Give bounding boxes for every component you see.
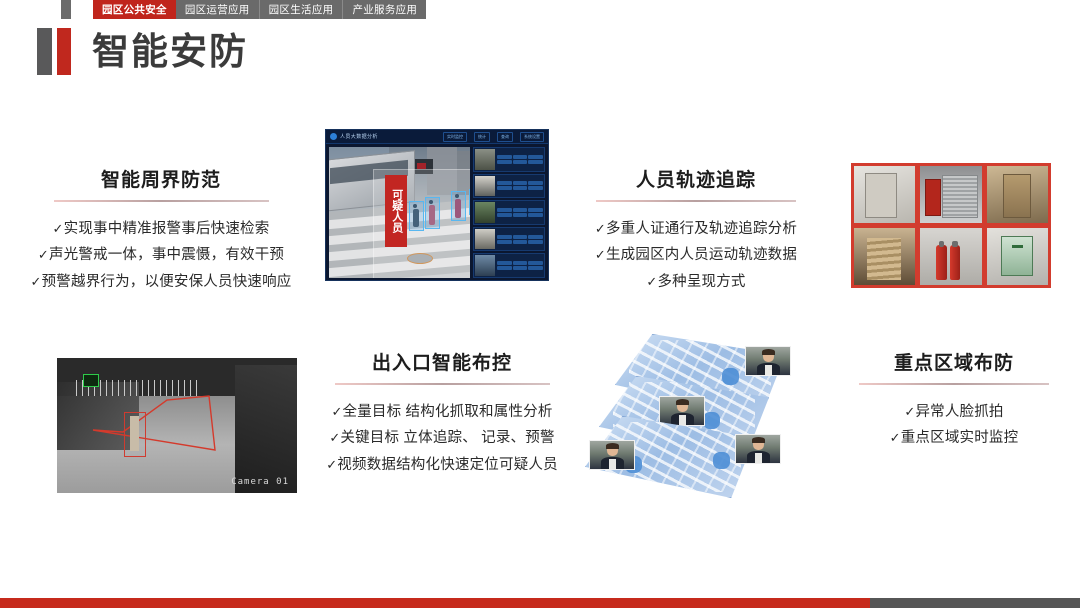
list-item: ✓视频数据结构化快速定位可疑人员 xyxy=(292,452,592,479)
bullet-text: 实现事中精准报警事后快速检索 xyxy=(64,221,270,237)
bullet-text: 关键目标 立体追踪、 记录、预警 xyxy=(340,430,554,446)
list-item[interactable] xyxy=(473,200,545,225)
list-item: ✓重点区域实时监控 xyxy=(828,425,1080,452)
meta-field xyxy=(528,240,543,244)
dashboard-detection-list[interactable] xyxy=(473,147,545,278)
check-icon: ✓ xyxy=(904,404,915,419)
door-shape xyxy=(865,173,897,219)
dashboard-header-buttons: 实时监控 统计 查询 系统设置 xyxy=(443,132,544,142)
perimeter-alarm-zone xyxy=(57,358,297,493)
list-item[interactable] xyxy=(473,174,545,199)
dashboard-btn-monitor[interactable]: 实时监控 xyxy=(443,132,467,142)
footer-red-segment xyxy=(0,598,870,608)
section-intelligent-perimeter: 智能周界防范 ✓实现事中精准报警事后快速检索 ✓声光警戒一体，事中震慑，有效干预… xyxy=(0,165,322,296)
section-entrance-control: 出入口智能布控 ✓全量目标 结构化抓取和属性分析 ✓关键目标 立体追踪、 记录、… xyxy=(292,348,592,479)
bullet-text: 声光警戒一体，事中震慑，有效干预 xyxy=(49,247,284,263)
list-item[interactable] xyxy=(473,147,545,172)
meta-field xyxy=(528,213,543,217)
bullet-text: 多种呈现方式 xyxy=(657,274,745,290)
list-item[interactable] xyxy=(473,227,545,252)
bullet-list: ✓异常人脸抓拍 ✓重点区域实时监控 xyxy=(828,399,1080,453)
control-panel-label xyxy=(1012,245,1023,248)
meta-field xyxy=(513,213,528,217)
person-hair xyxy=(676,399,689,405)
top-tab-bar: 园区公共安全 园区运营应用 园区生活应用 产业服务应用 xyxy=(0,0,1080,19)
check-icon: ✓ xyxy=(595,221,606,236)
section-divider xyxy=(335,383,550,385)
person-shirt xyxy=(609,459,615,469)
meta-field xyxy=(513,240,528,244)
page-title: 智能安防 xyxy=(92,33,248,70)
meta-field xyxy=(497,181,512,185)
bullet-text: 生成园区内人员运动轨迹数据 xyxy=(606,247,797,263)
section-title: 人员轨迹追踪 xyxy=(560,165,832,192)
bullet-list: ✓多重人证通行及轨迹追踪分析 ✓生成园区内人员运动轨迹数据 ✓多种呈现方式 xyxy=(560,216,832,296)
section-divider xyxy=(596,200,796,202)
list-item[interactable] xyxy=(473,253,545,278)
check-icon: ✓ xyxy=(331,404,342,419)
collage-cell-rolling-shutter xyxy=(920,166,981,223)
detection-meta xyxy=(497,255,543,276)
dashboard-btn-query[interactable]: 查询 xyxy=(497,132,513,142)
list-item: ✓全量目标 结构化抓取和属性分析 xyxy=(292,399,592,426)
check-icon: ✓ xyxy=(595,247,606,262)
face-thumbnail xyxy=(475,176,495,197)
detection-meta xyxy=(497,149,543,170)
meta-field xyxy=(513,266,528,270)
tab-park-operations[interactable]: 园区运营应用 xyxy=(176,0,260,19)
tab-park-public-safety[interactable]: 园区公共安全 xyxy=(93,0,176,19)
control-panel-shape xyxy=(1001,236,1033,276)
meta-field xyxy=(528,181,543,185)
title-accent-bar-red xyxy=(57,28,71,75)
figure-facility-collage xyxy=(851,163,1051,288)
elevator-shape xyxy=(1003,174,1031,218)
pedestrian-bounding-box xyxy=(469,189,470,215)
collage-grid xyxy=(851,163,1051,288)
person-shirt xyxy=(755,453,761,463)
face-snapshot-card xyxy=(589,440,635,470)
meta-field xyxy=(497,155,512,159)
face-snapshot-card xyxy=(659,396,705,426)
footer-gray-segment xyxy=(870,598,1080,608)
face-snapshot-card xyxy=(735,434,781,464)
detection-meta xyxy=(497,176,543,197)
check-icon: ✓ xyxy=(38,247,49,262)
detection-meta xyxy=(497,202,543,223)
meta-field xyxy=(497,213,512,217)
intruder-figure xyxy=(130,416,138,451)
list-item: ✓预警越界行为，以便安保人员快速响应 xyxy=(0,269,322,296)
bullet-list: ✓实现事中精准报警事后快速检索 ✓声光警戒一体，事中震慑，有效干预 ✓预警越界行… xyxy=(0,216,322,296)
section-title: 重点区域布防 xyxy=(828,348,1080,375)
person-hair xyxy=(762,349,775,355)
section-divider xyxy=(859,383,1049,385)
meta-field xyxy=(513,160,528,164)
meta-field xyxy=(528,186,543,190)
meta-field xyxy=(528,160,543,164)
meta-field xyxy=(497,160,512,164)
collage-cell-door xyxy=(854,166,915,223)
person-hair xyxy=(752,437,765,443)
fire-extinguisher-icon xyxy=(950,245,960,280)
list-item: ✓多重人证通行及轨迹追踪分析 xyxy=(560,216,832,243)
meta-field xyxy=(497,235,512,239)
dashboard-body: 可疑人员 xyxy=(326,144,548,281)
meta-field xyxy=(528,208,543,212)
list-item: ✓声光警戒一体，事中震慑，有效干预 xyxy=(0,242,322,269)
figure-night-perimeter-camera: Camera 01 xyxy=(57,358,297,493)
meta-field xyxy=(497,240,512,244)
tab-park-living[interactable]: 园区生活应用 xyxy=(260,0,344,19)
meta-field xyxy=(513,186,528,190)
pedestrian-bounding-box xyxy=(451,191,466,221)
list-item: ✓关键目标 立体追踪、 记录、预警 xyxy=(292,425,592,452)
dashboard-btn-stats[interactable]: 统计 xyxy=(474,132,490,142)
tab-industry-services[interactable]: 产业服务应用 xyxy=(343,0,426,19)
check-icon: ✓ xyxy=(53,221,64,236)
bullet-text: 全量目标 结构化抓取和属性分析 xyxy=(343,404,553,420)
meta-field xyxy=(513,208,528,212)
section-title: 智能周界防范 xyxy=(0,165,322,192)
page-title-row: 智能安防 xyxy=(37,28,248,75)
meta-field xyxy=(497,266,512,270)
tabbar-white-gap xyxy=(71,0,93,19)
collage-cell-fire-extinguishers xyxy=(920,228,981,285)
cloud-logo-icon xyxy=(330,133,337,140)
meta-field xyxy=(497,208,512,212)
extinguisher-nozzle xyxy=(939,241,945,247)
meta-field xyxy=(528,235,543,239)
pedestrian-bounding-box xyxy=(409,201,424,231)
figure-crowd-analytics-dashboard: 人员大数据分析 实时监控 统计 查询 系统设置 xyxy=(325,129,549,281)
section-divider xyxy=(54,200,269,202)
section-personnel-trajectory: 人员轨迹追踪 ✓多重人证通行及轨迹追踪分析 ✓生成园区内人员运动轨迹数据 ✓多种… xyxy=(560,165,832,296)
title-accent-bar-gray xyxy=(37,28,52,75)
meta-field xyxy=(528,266,543,270)
suspect-person-label: 可疑人员 xyxy=(385,175,407,247)
bullet-text: 预警越界行为，以便安保人员快速响应 xyxy=(42,274,292,290)
check-icon: ✓ xyxy=(646,274,657,289)
section-title: 出入口智能布控 xyxy=(292,348,592,375)
list-item: ✓异常人脸抓拍 xyxy=(828,399,1080,426)
check-icon: ✓ xyxy=(890,430,901,445)
pedestrian-bounding-box xyxy=(425,197,440,229)
bullet-list: ✓全量目标 结构化抓取和属性分析 ✓关键目标 立体追踪、 记录、预警 ✓视频数据… xyxy=(292,399,592,479)
meta-field xyxy=(497,261,512,265)
fire-extinguisher-icon xyxy=(936,245,946,280)
check-icon: ✓ xyxy=(31,274,42,289)
camera-label: Camera 01 xyxy=(231,477,289,487)
meta-field xyxy=(497,186,512,190)
face-thumbnail xyxy=(475,149,495,170)
list-item: ✓多种呈现方式 xyxy=(560,269,832,296)
tabs-container: 园区公共安全 园区运营应用 园区生活应用 产业服务应用 xyxy=(93,0,426,19)
dashboard-app-title: 人员大数据分析 xyxy=(340,133,378,140)
staircase-shape xyxy=(867,238,900,280)
map-node-marker xyxy=(713,452,730,469)
meta-field xyxy=(513,155,528,159)
check-icon: ✓ xyxy=(326,457,337,472)
dashboard-header: 人员大数据分析 实时监控 统计 查询 系统设置 xyxy=(326,130,548,144)
bullet-text: 重点区域实时监控 xyxy=(901,430,1019,446)
bullet-text: 异常人脸抓拍 xyxy=(915,404,1003,420)
figure-trajectory-map-layers xyxy=(585,334,820,499)
bullet-text: 视频数据结构化快速定位可疑人员 xyxy=(337,457,558,473)
collage-cell-staircase xyxy=(854,228,915,285)
face-thumbnail xyxy=(475,255,495,276)
red-door-shape xyxy=(925,179,941,217)
detection-meta xyxy=(497,229,543,250)
face-thumbnail xyxy=(475,229,495,250)
map-node-marker xyxy=(722,368,739,385)
rolling-shutter-shape xyxy=(942,175,978,218)
collage-cell-control-panel xyxy=(987,228,1048,285)
person-shirt xyxy=(679,415,685,425)
list-item: ✓生成园区内人员运动轨迹数据 xyxy=(560,242,832,269)
meta-field xyxy=(513,235,528,239)
meta-field xyxy=(528,261,543,265)
person-shirt xyxy=(765,365,771,375)
face-snapshot-card xyxy=(745,346,791,376)
check-icon: ✓ xyxy=(329,430,340,445)
bullet-text: 多重人证通行及轨迹追踪分析 xyxy=(606,221,797,237)
footer-bar xyxy=(0,598,1080,608)
meta-field xyxy=(528,155,543,159)
tabbar-filler xyxy=(426,0,1080,19)
face-thumbnail xyxy=(475,202,495,223)
meta-field xyxy=(513,181,528,185)
dashboard-btn-settings[interactable]: 系统设置 xyxy=(520,132,544,142)
person-hair xyxy=(606,443,619,449)
collage-cell-elevator xyxy=(987,166,1048,223)
map-node-marker xyxy=(703,412,720,429)
dashboard-video-feed[interactable]: 可疑人员 xyxy=(329,147,470,278)
extinguisher-nozzle xyxy=(952,241,958,247)
meta-field xyxy=(513,261,528,265)
tabbar-left-padding xyxy=(0,0,61,19)
section-key-area-defense: 重点区域布防 ✓异常人脸抓拍 ✓重点区域实时监控 xyxy=(828,348,1080,452)
list-item: ✓实现事中精准报警事后快速检索 xyxy=(0,216,322,243)
tabbar-gray-accent xyxy=(61,0,71,19)
slide-page: 园区公共安全 园区运营应用 园区生活应用 产业服务应用 智能安防 智能周界防范 … xyxy=(0,0,1080,608)
